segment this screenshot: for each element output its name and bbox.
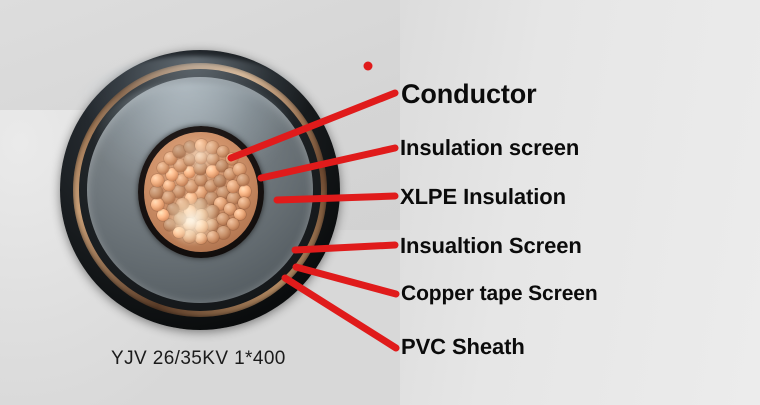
leader-line-conductor: [231, 93, 395, 158]
stray-red-dot: [364, 62, 373, 71]
annotation-leader-lines: [0, 0, 760, 405]
label-insulation-screen: Insulation screen: [400, 135, 579, 161]
leader-line-xlpe-insulation: [277, 196, 395, 200]
label-pvc-sheath: PVC Sheath: [401, 334, 525, 360]
label-insualtion-screen: Insualtion Screen: [400, 233, 582, 259]
label-xlpe-insulation: XLPE Insulation: [400, 184, 566, 210]
cable-cross-section-figure: Conductor Insulation screen XLPE Insulat…: [0, 0, 760, 405]
leader-line-insualtion-screen: [295, 245, 395, 250]
cable-spec-caption: YJV 26/35KV 1*400: [111, 348, 286, 370]
leader-line-copper-tape-screen: [296, 267, 396, 294]
leader-line-insulation-screen: [261, 148, 395, 178]
label-copper-tape-screen: Copper tape Screen: [401, 282, 598, 306]
label-conductor: Conductor: [401, 79, 537, 110]
